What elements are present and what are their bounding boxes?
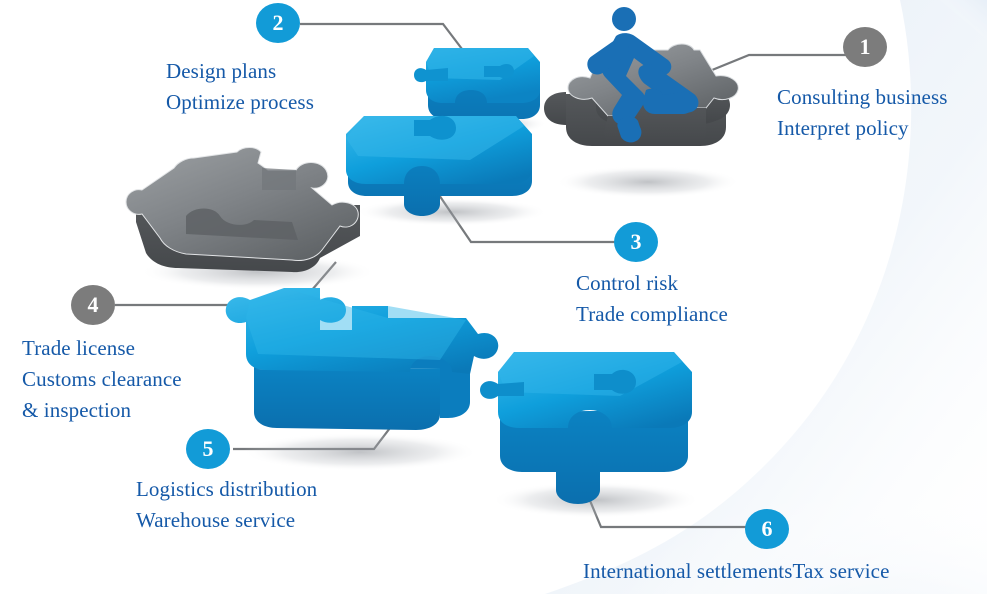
step-badge-2[interactable]: 2 [256, 3, 300, 43]
step-label-5-line-1: Logistics distribution [136, 474, 317, 505]
piece-2-notch-right [484, 64, 514, 78]
step-label-3-line-2: Trade compliance [576, 299, 728, 330]
piece-5-side [254, 368, 440, 430]
puzzle-piece-5 [226, 288, 499, 430]
step-badge-4[interactable]: 4 [71, 285, 115, 325]
step-badge-1[interactable]: 1 [843, 27, 887, 67]
step-label-5-line-2: Warehouse service [136, 505, 317, 536]
step-badge-4-number: 4 [88, 292, 99, 318]
step-label-4: Trade license Customs clearance & inspec… [22, 333, 182, 426]
step-label-1-line-2: Interpret policy [777, 113, 948, 144]
piece-1-knob-left-side [544, 92, 566, 125]
step-label-1: Consulting business Interpret policy [777, 82, 948, 144]
piece-shadow-5 [242, 433, 478, 471]
step-badge-3[interactable]: 3 [614, 222, 658, 262]
step-label-4-line-2: Customs clearance [22, 364, 182, 395]
step-label-6: International settlementsTax service [583, 556, 890, 587]
piece-4-notch-top [262, 168, 296, 190]
puzzle-piece-6 [480, 352, 692, 504]
step-badge-5-number: 5 [203, 436, 214, 462]
step-badge-3-number: 3 [631, 229, 642, 255]
step-label-6-line-1: International settlementsTax service [583, 556, 890, 587]
infographic-canvas: 1 2 3 4 5 6 Consulting business Interpre… [0, 0, 987, 594]
runner-head [612, 7, 636, 31]
piece-shadow-1 [556, 166, 740, 198]
step-label-3-line-1: Control risk [576, 268, 728, 299]
step-badge-5[interactable]: 5 [186, 429, 230, 469]
step-badge-6[interactable]: 6 [745, 509, 789, 549]
step-label-1-line-1: Consulting business [777, 82, 948, 113]
step-label-5: Logistics distribution Warehouse service [136, 474, 317, 536]
step-label-3: Control risk Trade compliance [576, 268, 728, 330]
piece-2-notch-left [414, 68, 448, 82]
step-label-2-line-2: Optimize process [166, 87, 314, 118]
step-badge-2-number: 2 [273, 10, 284, 36]
step-badge-6-number: 6 [762, 516, 773, 542]
step-label-2: Design plans Optimize process [166, 56, 314, 118]
step-label-2-line-1: Design plans [166, 56, 314, 87]
step-badge-1-number: 1 [860, 34, 871, 60]
step-label-4-line-1: Trade license [22, 333, 182, 364]
puzzle-piece-4 [126, 148, 360, 273]
piece-shadow-3 [356, 198, 548, 226]
step-label-4-line-3: & inspection [22, 395, 182, 426]
